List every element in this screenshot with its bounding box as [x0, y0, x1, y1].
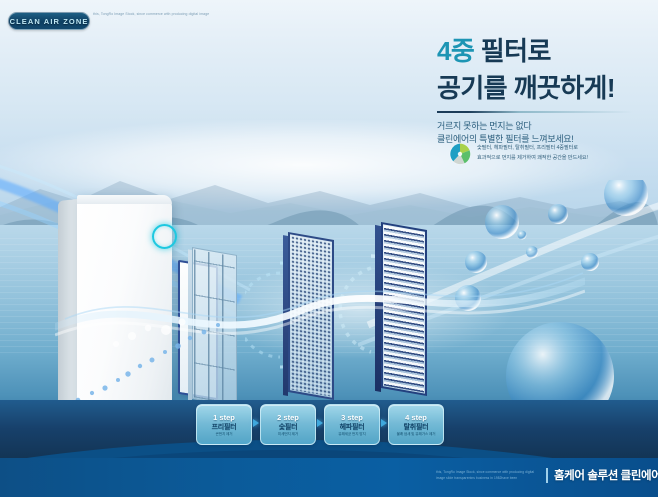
step-desc: 불쾌 냄새 및 유해가스 제거: [397, 432, 436, 437]
purifier-top-lip: [77, 195, 172, 204]
step-chip-1[interactable]: 1 step 프리필터 큰먼지 제거: [196, 404, 252, 445]
headline-line-1-rest: 필터로: [474, 36, 551, 66]
step-arrow-3-icon: [380, 404, 388, 442]
footer-brand-title: 홈케어 솔루션 클린에어: [554, 467, 658, 483]
step-chip-4[interactable]: 4 step 탈취필터 불쾌 냄새 및 유해가스 제거: [388, 404, 444, 445]
step-name: 숯필터: [279, 423, 298, 432]
headline-accent-text: 4중: [437, 36, 474, 66]
poster-canvas: CLEAN AIR ZONE this, TongRo Image Stock,…: [0, 0, 658, 497]
step-name: 탈취필터: [404, 423, 429, 432]
step-number: 2 step: [277, 413, 299, 422]
step-sequence: 1 step 프리필터 큰먼지 제거 2 step 숯필터 미세먼지 제거 3 …: [196, 404, 444, 445]
step-number: 4 step: [405, 413, 427, 422]
footer-credit-note: this, TongRo Image Stock, since commerce…: [436, 470, 541, 482]
step-chip-3[interactable]: 3 step 헤파필터 유해세균 먼지 방지: [324, 404, 380, 445]
dust-particle-trail: [70, 300, 260, 410]
headline-block: 4중 필터로 공기를 깨끗하게! 거르지 못하는 먼지는 없다 클린에어의 특별…: [437, 33, 649, 147]
info-row: 숯필터, 헤파필터, 탈취필터, 프리필터 4중필터로 효과적으로 먼지를 제거…: [449, 143, 588, 165]
clean-air-zone-badge[interactable]: CLEAN AIR ZONE: [8, 12, 90, 30]
step-name: 프리필터: [212, 423, 237, 432]
footer-divider: [546, 468, 548, 483]
step-desc: 미세먼지 제거: [278, 432, 298, 437]
top-credit-note: this, TongRo Image Stock, since commerce…: [93, 12, 223, 18]
badge-label: CLEAN AIR ZONE: [10, 17, 89, 26]
step-arrow-2-icon: [316, 404, 324, 442]
subheadline-line-1: 거르지 못하는 먼지는 없다: [437, 120, 649, 134]
headline-line-1: 4중 필터로: [437, 33, 649, 70]
power-ring-indicator-icon: [152, 224, 177, 249]
step-chip-2[interactable]: 2 step 숯필터 미세먼지 제거: [260, 404, 316, 445]
step-arrow-1-icon: [252, 404, 260, 442]
step-desc: 큰먼지 제거: [216, 432, 233, 437]
info-text-line-1: 숯필터, 헤파필터, 탈취필터, 프리필터 4중필터로: [477, 144, 588, 154]
pie-chart-icon: [449, 143, 471, 165]
step-name: 헤파필터: [340, 423, 365, 432]
headline-line-2: 공기를 깨끗하게!: [437, 70, 649, 107]
step-number: 1 step: [213, 413, 235, 422]
headline-divider: [437, 111, 633, 113]
step-number: 3 step: [341, 413, 363, 422]
step-desc: 유해세균 먼지 방지: [338, 432, 365, 437]
info-text-line-2: 효과적으로 먼지를 제거하여 쾌적한 공간을 만드세요!: [477, 154, 588, 164]
info-text-block: 숯필터, 헤파필터, 탈취필터, 프리필터 4중필터로 효과적으로 먼지를 제거…: [477, 144, 588, 163]
